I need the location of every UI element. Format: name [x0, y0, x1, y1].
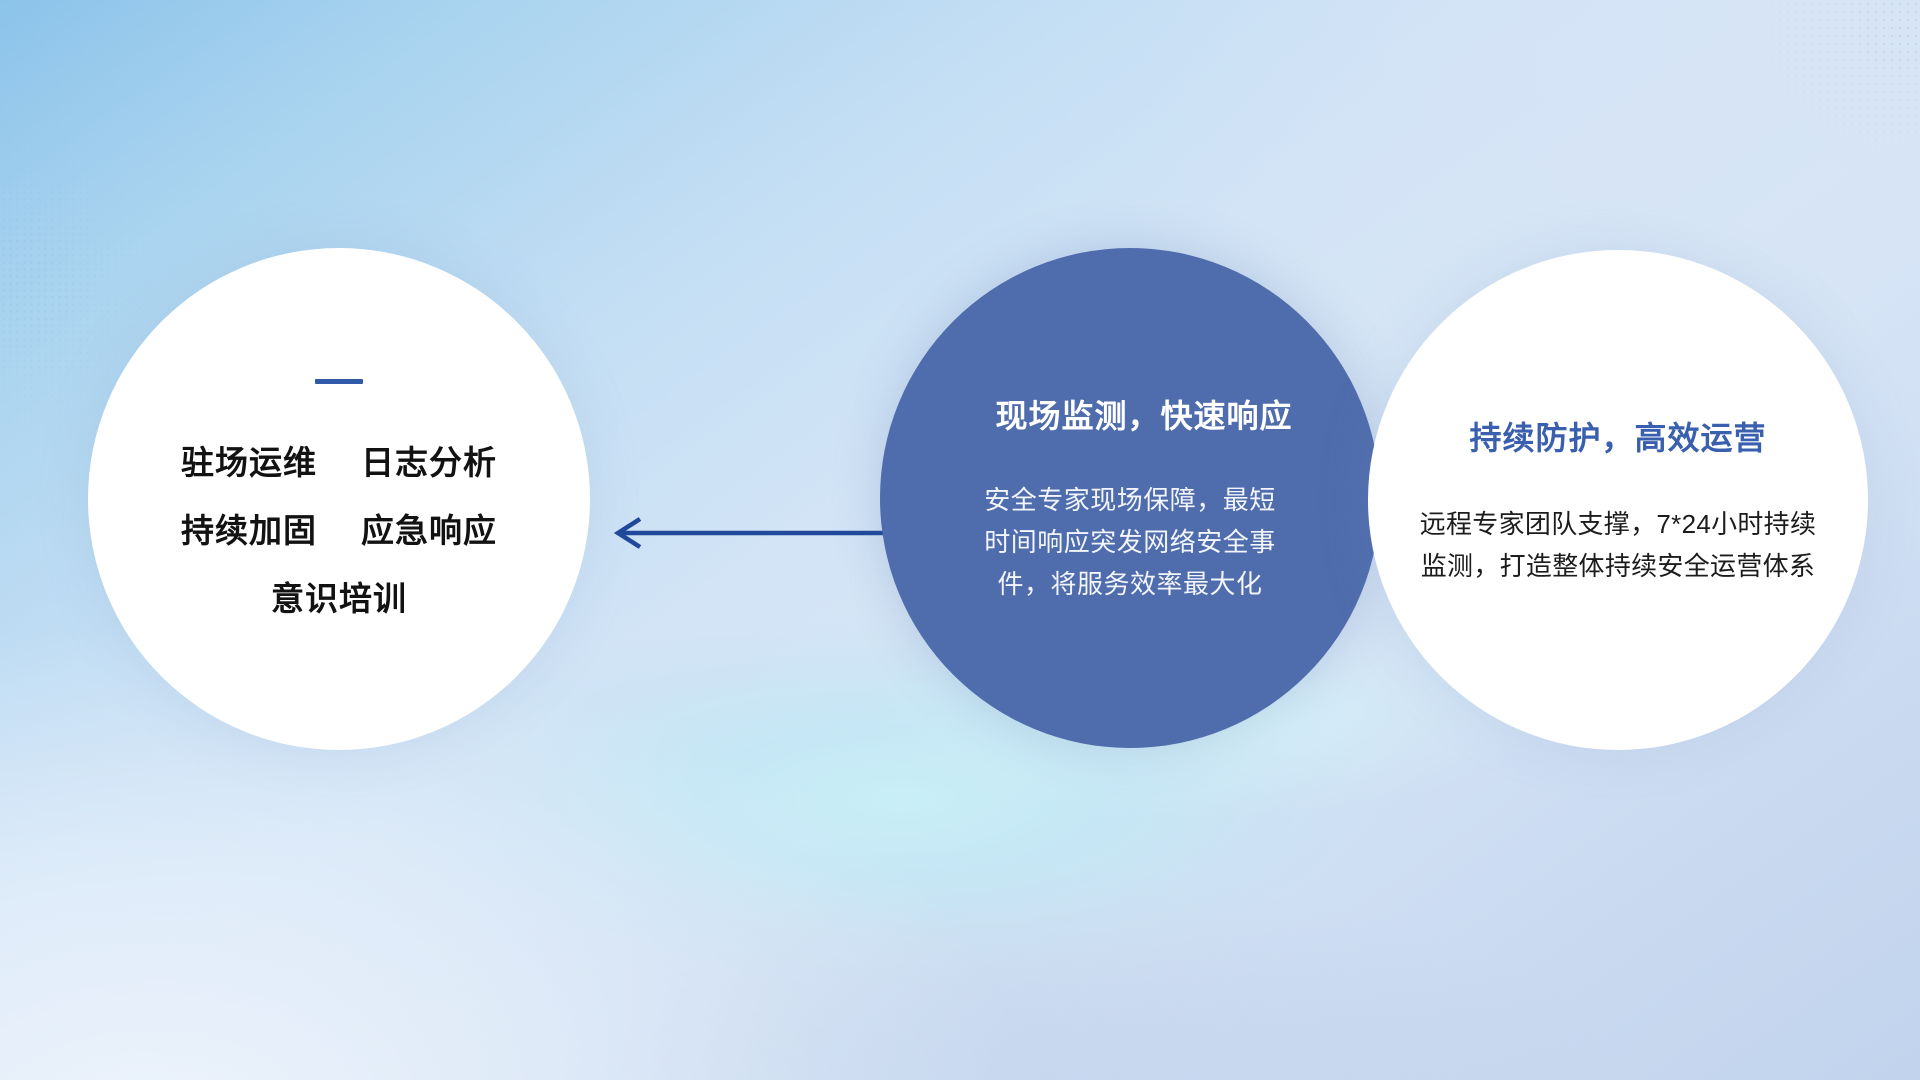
- onsite-monitoring-title: 现场监测，快速响应: [995, 391, 1292, 437]
- onsite-monitoring-body: 安全专家现场保障，最短时间响应突发网络安全事件，将服务效率最大化: [972, 479, 1288, 605]
- service-item: 应急响应: [361, 504, 497, 552]
- continuous-protection-title: 持续防护，高效运营: [1469, 413, 1766, 459]
- service-item: 日志分析: [361, 436, 497, 484]
- service-keywords-circle: 驻场运维 日志分析 持续加固 应急响应 意识培训: [88, 248, 590, 750]
- continuous-protection-circle: 持续防护，高效运营 远程专家团队支撑，7*24小时持续监测，打造整体持续安全运营…: [1368, 250, 1868, 750]
- title-divider: [315, 379, 363, 384]
- service-row: 意识培训: [271, 572, 407, 620]
- arrow-left-icon: [596, 516, 896, 550]
- service-keyword-list: 驻场运维 日志分析 持续加固 应急响应 意识培训: [181, 436, 497, 620]
- service-item: 驻场运维: [181, 436, 317, 484]
- service-item: 持续加固: [181, 504, 317, 552]
- service-row: 驻场运维 日志分析: [181, 436, 497, 484]
- continuous-protection-body: 远程专家团队支撑，7*24小时持续监测，打造整体持续安全运营体系: [1413, 503, 1823, 587]
- service-row: 持续加固 应急响应: [181, 504, 497, 552]
- slide-canvas: 驻场运维 日志分析 持续加固 应急响应 意识培训 现场监测，快速响应 安全专家现…: [0, 0, 1920, 1080]
- service-item: 意识培训: [271, 572, 407, 620]
- onsite-monitoring-circle: 现场监测，快速响应 安全专家现场保障，最短时间响应突发网络安全事件，将服务效率最…: [880, 248, 1380, 748]
